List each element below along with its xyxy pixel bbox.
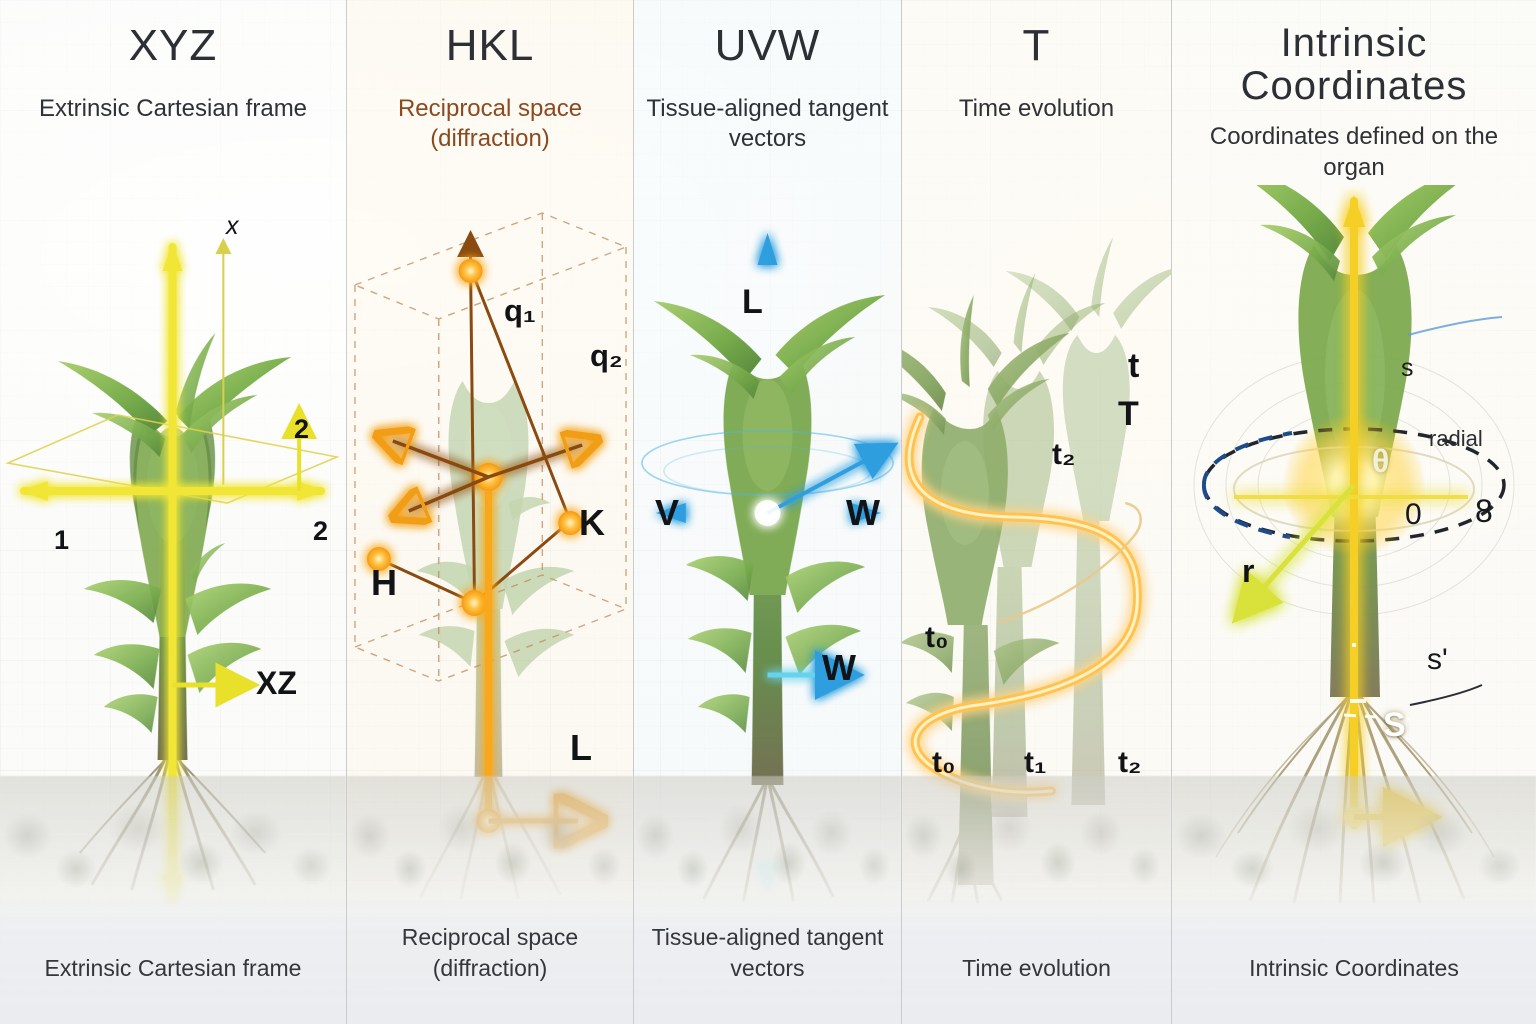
panel-artwork-uvw bbox=[634, 185, 901, 904]
axis-label-k: K bbox=[579, 505, 605, 541]
arc-length-label-s-top: s bbox=[1401, 356, 1414, 381]
time-label-T: T bbox=[1118, 397, 1139, 431]
panel-artwork-hkl bbox=[347, 185, 633, 904]
panel-footer: Extrinsic Cartesian frame bbox=[0, 953, 346, 984]
arc-length-label-s-prime: s' bbox=[1427, 645, 1448, 675]
axis-label-h: H bbox=[371, 565, 397, 601]
xyz-diagram-svg bbox=[0, 185, 346, 904]
radius-label-r: r bbox=[1242, 555, 1254, 587]
panel-intrinsic-coordinates[interactable]: Intrinsic Coordinates Coordinates define… bbox=[1172, 0, 1536, 1024]
axis-label-w-lower: W bbox=[822, 650, 856, 686]
panel-footer: Tissue-aligned tangent vectors bbox=[634, 922, 901, 984]
time-label-t2-curve: t₂ bbox=[1052, 440, 1075, 470]
panel-artwork-xyz bbox=[0, 185, 346, 904]
panel-subtitle: Coordinates defined on the organ bbox=[1172, 122, 1536, 183]
time-label-t0-curve: t₀ bbox=[925, 623, 949, 653]
panel-xyz[interactable]: XYZ Extrinsic Cartesian frame bbox=[0, 0, 347, 1024]
t-diagram-svg bbox=[902, 185, 1171, 904]
panel-header-t: T Time evolution bbox=[902, 0, 1171, 124]
s-prime-leader bbox=[1410, 685, 1482, 705]
intrinsic-diagram-svg bbox=[1172, 185, 1536, 904]
panel-title: UVW bbox=[634, 22, 901, 70]
panel-uvw[interactable]: UVW Tissue-aligned tangent vectors bbox=[634, 0, 902, 1024]
panel-subtitle: Reciprocal space (diffraction) bbox=[347, 94, 633, 155]
axis-label-2-lower: 2 bbox=[313, 518, 328, 545]
panel-artwork-t bbox=[902, 185, 1171, 904]
reciprocal-node-label-q2: q₂ bbox=[590, 340, 623, 371]
panel-header-uvw: UVW Tissue-aligned tangent vectors bbox=[634, 0, 901, 155]
coordinate-frames-figure: XYZ Extrinsic Cartesian frame bbox=[0, 0, 1536, 1024]
time-label-t2-axis: t₂ bbox=[1118, 748, 1141, 778]
panel-title: T bbox=[902, 22, 1171, 70]
time-label-t0-axis: t₀ bbox=[932, 748, 956, 778]
panel-header-xyz: XYZ Extrinsic Cartesian frame bbox=[0, 0, 346, 124]
axis-label-w-upper: W bbox=[846, 495, 880, 531]
panel-title: XYZ bbox=[0, 22, 346, 70]
axis-label-l: L bbox=[570, 730, 592, 766]
time-label-t1-axis: t₁ bbox=[1024, 748, 1046, 778]
panel-row: XYZ Extrinsic Cartesian frame bbox=[0, 0, 1536, 1024]
angle-label-theta: θ bbox=[1372, 445, 1389, 477]
panel-subtitle: Time evolution bbox=[902, 94, 1171, 125]
panel-header-intrinsic: Intrinsic Coordinates Coordinates define… bbox=[1172, 0, 1536, 184]
axis-label-1: 1 bbox=[54, 527, 69, 554]
axis-label-xz: XZ bbox=[256, 667, 297, 699]
reciprocal-node-label-q1: q₁ bbox=[504, 295, 536, 326]
panel-subtitle: Tissue-aligned tangent vectors bbox=[634, 94, 901, 155]
angle-label-8: 8 bbox=[1475, 495, 1493, 527]
panel-footer: Time evolution bbox=[902, 953, 1171, 984]
axis-label-l: L bbox=[742, 285, 763, 319]
radial-label: radial bbox=[1429, 428, 1483, 450]
arc-length-label-S: S bbox=[1383, 708, 1406, 742]
uvw-diagram-svg bbox=[634, 185, 901, 904]
intrinsic-axes bbox=[1234, 195, 1468, 827]
axis-label-x: x bbox=[226, 214, 239, 239]
panel-title: Intrinsic Coordinates bbox=[1172, 22, 1536, 108]
axis-label-2-upper: 2 bbox=[294, 416, 309, 443]
panel-subtitle: Extrinsic Cartesian frame bbox=[0, 94, 346, 125]
panel-artwork-intrinsic bbox=[1172, 185, 1536, 904]
panel-header-hkl: HKL Reciprocal space (diffraction) bbox=[347, 0, 633, 155]
angle-label-0: 0 bbox=[1405, 500, 1422, 530]
axis-label-v: V bbox=[655, 495, 679, 531]
panel-footer: Reciprocal space (diffraction) bbox=[347, 922, 633, 984]
panel-footer: Intrinsic Coordinates bbox=[1172, 953, 1536, 984]
time-label-t: t bbox=[1128, 349, 1139, 383]
hkl-diagram-svg bbox=[347, 185, 633, 904]
radial-leader bbox=[1408, 317, 1502, 335]
xyz-axis-cross bbox=[20, 243, 325, 904]
panel-t[interactable]: T Time evolution bbox=[902, 0, 1172, 1024]
panel-hkl[interactable]: HKL Reciprocal space (diffraction) bbox=[347, 0, 634, 1024]
panel-title: HKL bbox=[347, 22, 633, 70]
